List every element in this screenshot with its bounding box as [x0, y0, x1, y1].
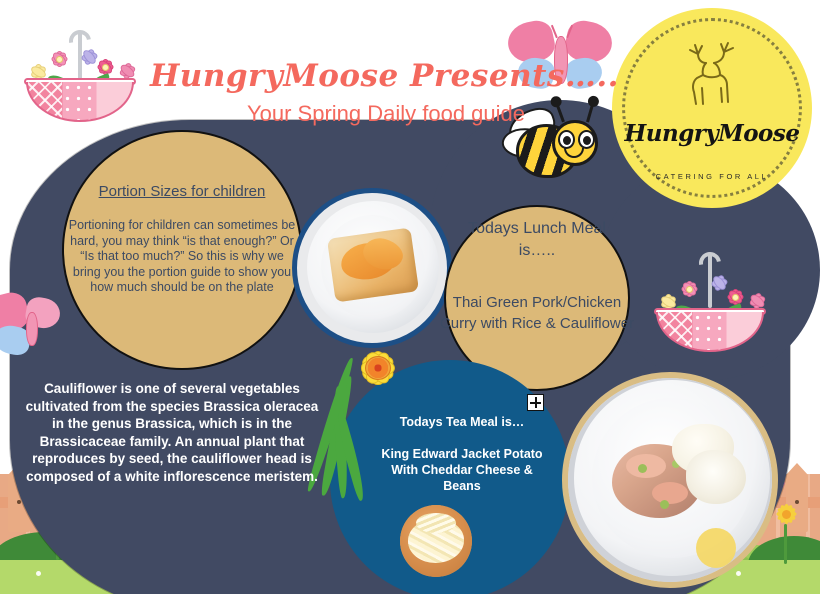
logo-tagline: CATERING FOR ALL: [612, 172, 812, 181]
umbrella-flowers-left: [18, 14, 142, 122]
portion-sizes-body: Portioning for children can sometimes be…: [68, 218, 296, 296]
portion-sizes-heading: Portion Sizes for children: [72, 183, 292, 200]
tea-meal-heading: Todays Tea Meal is…: [372, 415, 552, 429]
move-cursor[interactable]: [527, 394, 544, 411]
tea-meal-name: King Edward Jacket Potato With Cheddar C…: [372, 446, 552, 494]
curry-meal-photo: [562, 372, 778, 588]
lunch-meal-name: Thai Green Pork/Chicken Curry with Rice …: [438, 292, 636, 334]
moose-icon: [672, 38, 750, 116]
umbrella-flowers-right: [648, 244, 772, 352]
page-subtitle: Your Spring Daily food guide: [236, 100, 536, 128]
jacket-potato-photo: [400, 505, 472, 577]
lunch-meal-heading: Todays Lunch Meal is…..: [452, 218, 622, 262]
poster-canvas: HungryMoose CATERING FOR ALL HungryMoose…: [0, 0, 820, 594]
page-title: HungryMoose Presents…..: [150, 58, 530, 94]
cauliflower-info-text: Cauliflower is one of several vegetables…: [22, 380, 322, 485]
logo-wordmark: HungryMoose: [612, 120, 812, 147]
butterfly-left: [0, 292, 74, 362]
pastry-dessert-photo: [292, 188, 452, 348]
